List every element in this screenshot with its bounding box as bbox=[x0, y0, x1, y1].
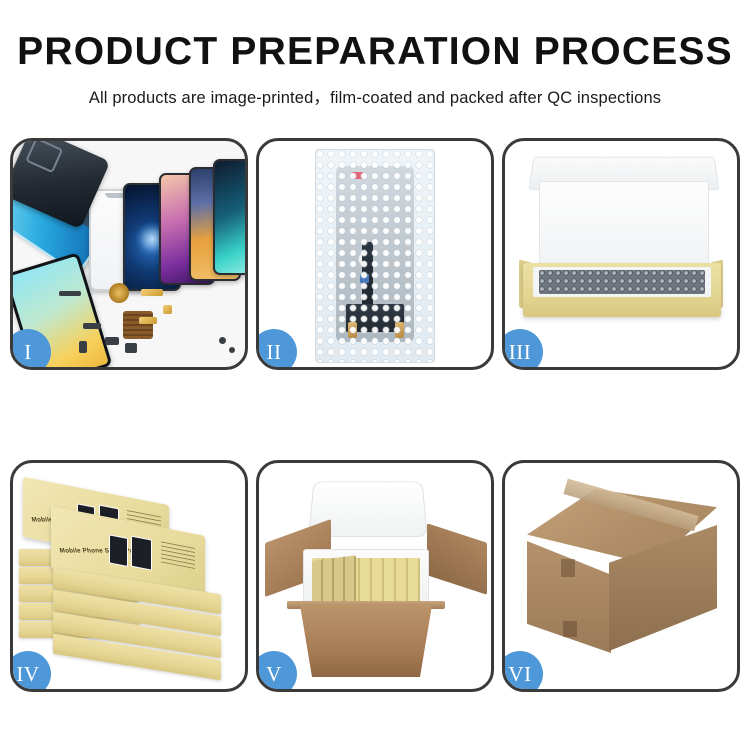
screw-icon bbox=[219, 337, 226, 344]
step-2-illustration bbox=[259, 141, 491, 367]
step-6-illustration bbox=[505, 463, 737, 689]
carton-seam-icon bbox=[561, 559, 575, 577]
step-panel-6: VI bbox=[502, 460, 740, 692]
step-panel-3: III bbox=[502, 138, 740, 370]
page-subtitle: All products are image-printed，film-coat… bbox=[0, 84, 750, 108]
mesh-grille-icon bbox=[123, 311, 153, 339]
header: PRODUCT PREPARATION PROCESS All products… bbox=[0, 0, 750, 108]
foam-sheet-icon bbox=[539, 181, 709, 269]
page-title: PRODUCT PREPARATION PROCESS bbox=[0, 32, 750, 71]
carton-flap-right-icon bbox=[427, 523, 487, 594]
teal-gradient-phone-icon bbox=[213, 159, 245, 275]
box-lid-product-image bbox=[131, 536, 152, 571]
chip-part-icon bbox=[105, 337, 119, 345]
step-panel-4: Mobile Phone Spare Parts Mobile Phone Sp… bbox=[10, 460, 248, 692]
flex-cable-icon bbox=[139, 317, 157, 324]
step-3-illustration bbox=[505, 141, 737, 367]
bubble-wrapped-item-icon bbox=[539, 270, 705, 294]
product-preparation-infographic: PRODUCT PREPARATION PROCESS All products… bbox=[0, 0, 750, 750]
carton-front-panel-icon bbox=[291, 605, 441, 677]
box-interior-icon bbox=[533, 267, 711, 297]
bubble-wrap-bag-icon bbox=[315, 149, 435, 363]
chip-part-icon bbox=[83, 323, 101, 329]
box-lid-spec-lines bbox=[161, 540, 195, 569]
carton-seam-icon bbox=[563, 621, 577, 637]
flex-cable-icon bbox=[141, 289, 163, 296]
chip-part-icon bbox=[125, 343, 137, 353]
step-panel-1: I bbox=[10, 138, 248, 370]
bubble-texture-overlay bbox=[316, 150, 434, 362]
step-panel-2: II bbox=[256, 138, 494, 370]
screw-icon bbox=[229, 347, 235, 353]
yellow-box-tray-icon bbox=[523, 263, 721, 317]
speaker-coil-icon bbox=[109, 283, 129, 303]
box-lid-product-image bbox=[109, 534, 128, 567]
chip-part-icon bbox=[79, 341, 87, 353]
connector-icon bbox=[163, 305, 172, 314]
chip-part-icon bbox=[59, 291, 81, 296]
step-5-illustration bbox=[259, 463, 491, 689]
step-1-illustration bbox=[13, 141, 245, 367]
yellow-boxes-angled-icon bbox=[312, 555, 356, 606]
step-4-illustration: Mobile Phone Spare Parts Mobile Phone Sp… bbox=[13, 463, 245, 689]
step-panel-5: V bbox=[256, 460, 494, 692]
process-step-grid: I II bbox=[10, 138, 740, 692]
